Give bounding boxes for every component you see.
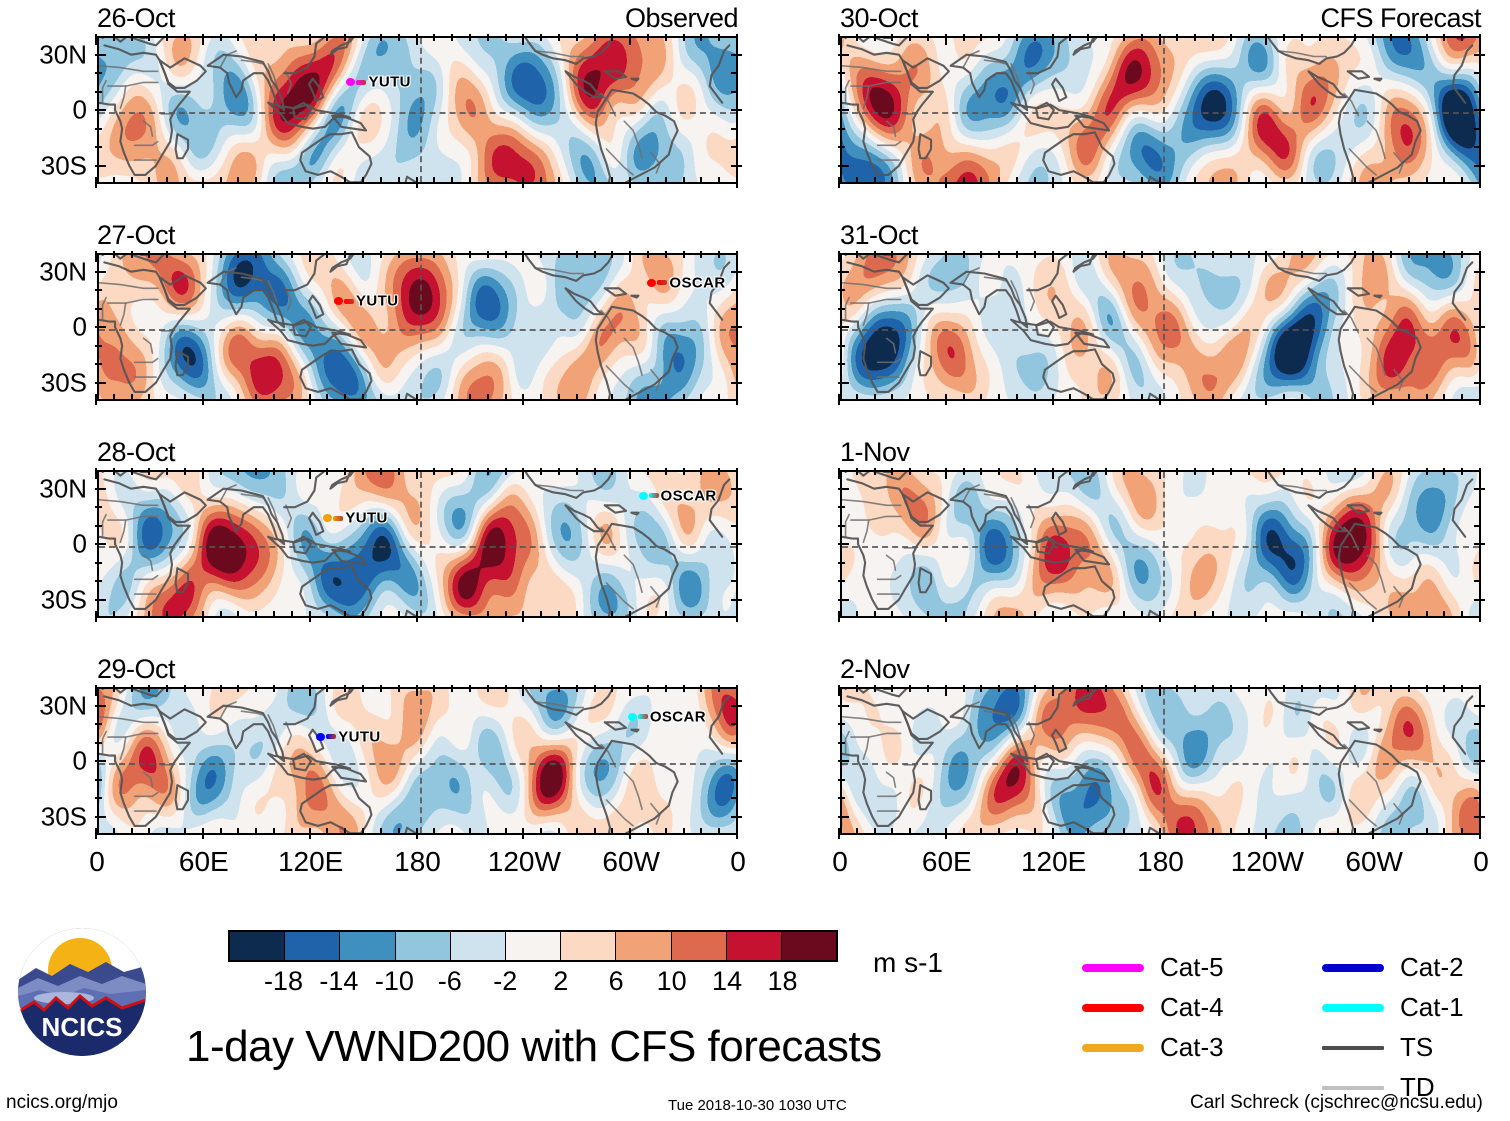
colorbar-segment: [230, 932, 284, 960]
axis-tick: [1159, 828, 1161, 839]
axis-tick: [505, 611, 507, 618]
panel-date-label: 31-Oct: [840, 220, 918, 251]
colorbar-tick-label: 18: [768, 966, 798, 997]
axis-tick: [344, 394, 346, 401]
axis-tick: [856, 685, 858, 692]
axis-tick: [1176, 828, 1178, 835]
y-axis-label: 0: [5, 529, 87, 560]
equator-line: [842, 112, 1479, 114]
axis-tick: [309, 685, 311, 696]
axis-tick: [1426, 177, 1428, 184]
storm-track-trail: [356, 80, 366, 85]
axis-tick: [629, 468, 631, 479]
axis-tick: [683, 685, 685, 692]
vwnd200-contour-field: [99, 255, 738, 401]
axis-tick: [909, 828, 911, 835]
axis-tick: [700, 177, 702, 184]
axis-tick: [998, 468, 1000, 475]
axis-tick: [1390, 34, 1392, 41]
vwnd200-contour-field: [842, 472, 1481, 618]
axis-tick: [1474, 599, 1485, 601]
axis-tick: [838, 34, 840, 45]
axis-tick: [647, 34, 649, 41]
axis-tick: [362, 177, 364, 184]
axis-tick: [1159, 611, 1161, 622]
axis-tick: [576, 611, 578, 618]
axis-tick: [856, 251, 858, 258]
axis-tick: [718, 611, 720, 618]
map-26-oct: YUTU: [97, 36, 738, 184]
axis-tick: [1372, 468, 1374, 479]
axis-tick: [95, 54, 106, 56]
y-axis-label: 30S: [5, 801, 87, 832]
axis-tick: [856, 468, 858, 475]
axis-tick: [594, 828, 596, 835]
axis-tick: [874, 468, 876, 475]
axis-tick: [202, 468, 204, 479]
axis-tick: [998, 685, 1000, 692]
axis-tick: [1337, 468, 1339, 475]
axis-tick: [255, 177, 257, 184]
axis-tick: [184, 611, 186, 618]
axis-tick: [113, 34, 115, 41]
axis-tick: [469, 34, 471, 41]
axis-tick: [1230, 468, 1232, 475]
axis-tick: [522, 34, 524, 45]
colorbar-tick-label: -14: [319, 966, 358, 997]
axis-tick: [1283, 251, 1285, 258]
axis-tick: [927, 34, 929, 41]
axis-tick: [731, 562, 738, 564]
y-axis-label: 30N: [5, 39, 87, 70]
colorbar-tick-label: -6: [438, 966, 462, 997]
axis-tick: [1474, 308, 1481, 310]
axis-tick: [540, 685, 542, 692]
y-axis-label: 30N: [5, 473, 87, 504]
axis-tick: [416, 468, 418, 479]
axis-tick: [1319, 685, 1321, 692]
legend-swatch: [1082, 964, 1144, 972]
axis-tick: [1390, 251, 1392, 258]
axis-tick: [874, 828, 876, 835]
storm-track-trail: [333, 516, 343, 521]
axis-tick: [505, 394, 507, 401]
y-axis-label: 30S: [5, 150, 87, 181]
axis-tick: [220, 177, 222, 184]
axis-tick: [95, 177, 97, 188]
axis-tick: [963, 611, 965, 618]
axis-tick: [731, 289, 738, 291]
axis-tick: [1474, 165, 1485, 167]
axis-tick: [522, 177, 524, 188]
axis-tick: [963, 394, 965, 401]
axis-tick: [398, 828, 400, 835]
storm-name-label: OSCAR: [669, 274, 725, 291]
axis-tick: [1212, 251, 1214, 258]
storm-marker-yutu: YUTU: [334, 292, 398, 310]
axis-tick: [1426, 34, 1428, 41]
axis-tick: [1474, 580, 1481, 582]
axis-tick: [1087, 685, 1089, 692]
axis-tick: [1443, 685, 1445, 692]
axis-tick: [273, 34, 275, 41]
axis-tick: [1354, 394, 1356, 401]
axis-tick: [1034, 34, 1036, 41]
axis-tick: [576, 177, 578, 184]
axis-tick: [647, 251, 649, 258]
axis-tick: [731, 271, 742, 273]
axis-tick: [838, 251, 840, 262]
axis-tick: [95, 828, 97, 839]
axis-tick: [927, 394, 929, 401]
legend-swatch: [1322, 964, 1384, 972]
axis-tick: [1474, 382, 1485, 384]
axis-tick: [148, 251, 150, 258]
axis-tick: [1443, 177, 1445, 184]
axis-tick: [1052, 251, 1054, 262]
axis-tick: [95, 599, 106, 601]
axis-tick: [945, 828, 947, 839]
axis-tick: [237, 468, 239, 475]
axis-tick: [594, 611, 596, 618]
y-axis-label: 0: [5, 312, 87, 343]
axis-tick: [1372, 177, 1374, 188]
axis-tick: [1372, 394, 1374, 405]
axis-tick: [838, 816, 849, 818]
axis-tick: [558, 685, 560, 692]
axis-tick: [451, 394, 453, 401]
axis-tick: [273, 828, 275, 835]
axis-tick: [522, 394, 524, 405]
colorbar-segment: [781, 932, 836, 960]
axis-tick: [1372, 611, 1374, 622]
storm-name-label: YUTU: [338, 728, 380, 745]
storm-position-dot: [346, 78, 355, 86]
axis-tick: [380, 828, 382, 835]
axis-tick: [611, 177, 613, 184]
axis-tick: [891, 828, 893, 835]
y-axis-label: 30S: [5, 584, 87, 615]
axis-tick: [273, 251, 275, 258]
axis-tick: [237, 611, 239, 618]
axis-tick: [326, 685, 328, 692]
axis-tick: [558, 177, 560, 184]
axis-tick: [731, 742, 738, 744]
axis-tick: [95, 326, 106, 328]
axis-tick: [718, 468, 720, 475]
axis-tick: [184, 34, 186, 41]
axis-tick: [558, 468, 560, 475]
axis-tick: [1176, 34, 1178, 41]
axis-tick: [380, 468, 382, 475]
axis-tick: [611, 468, 613, 475]
axis-tick: [166, 177, 168, 184]
axis-tick: [326, 611, 328, 618]
axis-tick: [1443, 468, 1445, 475]
axis-tick: [1319, 251, 1321, 258]
axis-tick: [838, 345, 845, 347]
axis-tick: [1474, 289, 1481, 291]
axis-tick: [963, 828, 965, 835]
axis-tick: [1123, 394, 1125, 401]
axis-tick: [148, 685, 150, 692]
axis-tick: [184, 828, 186, 835]
axis-tick: [736, 611, 738, 622]
panel-date-label: 27-Oct: [97, 220, 175, 251]
x-axis-label: 0: [1473, 846, 1489, 878]
axis-tick: [629, 685, 631, 696]
axis-tick: [1194, 468, 1196, 475]
colorbar-tick-label: -2: [493, 966, 517, 997]
axis-tick: [1230, 685, 1232, 692]
colorbar-tick-label: -18: [264, 966, 303, 997]
axis-tick: [665, 828, 667, 835]
axis-tick: [1212, 685, 1214, 692]
equator-line: [842, 329, 1479, 331]
axis-tick: [1176, 177, 1178, 184]
axis-tick: [291, 177, 293, 184]
axis-tick: [927, 177, 929, 184]
axis-tick: [451, 611, 453, 618]
legend-entry-cat-3: Cat-3: [1082, 1032, 1224, 1063]
axis-tick: [838, 146, 845, 148]
equator-line: [99, 763, 736, 765]
axis-tick: [255, 611, 257, 618]
axis-tick: [131, 828, 133, 835]
axis-tick: [487, 251, 489, 258]
axis-tick: [95, 525, 102, 527]
axis-tick: [398, 611, 400, 618]
axis-tick: [945, 34, 947, 45]
axis-tick: [309, 468, 311, 479]
axis-tick: [731, 109, 742, 111]
axis-tick: [1474, 705, 1485, 707]
axis-tick: [1087, 34, 1089, 41]
axis-tick: [731, 326, 742, 328]
axis-tick: [838, 580, 845, 582]
axis-tick: [1474, 779, 1481, 781]
panel-date-label: 2-Nov: [840, 654, 910, 685]
axis-tick: [273, 685, 275, 692]
axis-tick: [1479, 34, 1481, 45]
axis-tick: [1141, 251, 1143, 258]
axis-tick: [731, 705, 742, 707]
axis-tick: [665, 611, 667, 618]
axis-tick: [433, 468, 435, 475]
axis-tick: [700, 685, 702, 692]
axis-tick: [736, 685, 738, 696]
axis-tick: [1159, 394, 1161, 405]
axis-tick: [433, 394, 435, 401]
axis-tick: [856, 177, 858, 184]
axis-tick: [647, 828, 649, 835]
axis-tick: [487, 177, 489, 184]
axis-tick: [1230, 611, 1232, 618]
axis-tick: [1408, 34, 1410, 41]
axis-tick: [1461, 251, 1463, 258]
axis-tick: [874, 611, 876, 618]
axis-tick: [1265, 34, 1267, 45]
legend-entry-cat-4: Cat-4: [1082, 992, 1224, 1023]
axis-tick: [326, 177, 328, 184]
axis-tick: [1034, 611, 1036, 618]
axis-tick: [344, 177, 346, 184]
axis-tick: [1248, 251, 1250, 258]
axis-tick: [1265, 177, 1267, 188]
axis-tick: [487, 611, 489, 618]
legend-swatch: [1322, 1086, 1384, 1090]
axis-tick: [700, 251, 702, 258]
axis-tick: [1052, 177, 1054, 188]
axis-tick: [95, 345, 102, 347]
colorbar-tick-label: 6: [609, 966, 624, 997]
axis-tick: [594, 468, 596, 475]
axis-tick: [309, 828, 311, 839]
panel-date-label: 30-Oct: [840, 3, 918, 34]
map-29-oct: YUTUOSCAR: [97, 687, 738, 835]
axis-tick: [505, 468, 507, 475]
axis-tick: [1283, 177, 1285, 184]
axis-tick: [309, 251, 311, 262]
axis-tick: [540, 394, 542, 401]
axis-tick: [237, 177, 239, 184]
x-axis-label: 60E: [179, 846, 229, 878]
axis-tick: [380, 177, 382, 184]
axis-tick: [838, 760, 849, 762]
axis-tick: [980, 251, 982, 258]
axis-tick: [1052, 394, 1054, 405]
axis-tick: [1426, 828, 1428, 835]
x-axis-label: 60W: [1345, 846, 1403, 878]
x-axis-label: 180: [1137, 846, 1184, 878]
axis-tick: [398, 394, 400, 401]
axis-tick: [1265, 685, 1267, 696]
axis-tick: [1212, 177, 1214, 184]
axis-tick: [576, 34, 578, 41]
axis-tick: [1159, 34, 1161, 45]
axis-tick: [273, 468, 275, 475]
axis-tick: [980, 828, 982, 835]
axis-tick: [95, 34, 97, 45]
axis-tick: [998, 394, 1000, 401]
equator-line: [842, 546, 1479, 548]
axis-tick: [1474, 797, 1481, 799]
axis-tick: [1474, 326, 1485, 328]
axis-tick: [700, 828, 702, 835]
axis-tick: [1337, 611, 1339, 618]
axis-tick: [1301, 611, 1303, 618]
axis-tick: [838, 177, 840, 188]
axis-tick: [1283, 828, 1285, 835]
axis-tick: [1105, 34, 1107, 41]
axis-tick: [576, 394, 578, 401]
axis-tick: [1461, 685, 1463, 692]
axis-tick: [909, 611, 911, 618]
axis-tick: [1069, 468, 1071, 475]
axis-tick: [113, 468, 115, 475]
colorbar-tick-label: 14: [712, 966, 742, 997]
axis-tick: [255, 251, 257, 258]
axis-tick: [665, 177, 667, 184]
axis-tick: [362, 34, 364, 41]
axis-tick: [1052, 828, 1054, 839]
axis-tick: [1069, 251, 1071, 258]
axis-tick: [665, 394, 667, 401]
axis-tick: [945, 685, 947, 696]
axis-tick: [1474, 271, 1485, 273]
axis-tick: [1105, 685, 1107, 692]
axis-tick: [540, 611, 542, 618]
axis-tick: [838, 289, 845, 291]
axis-tick: [291, 34, 293, 41]
axis-tick: [1354, 828, 1356, 835]
axis-tick: [416, 251, 418, 262]
axis-tick: [909, 251, 911, 258]
axis-tick: [1194, 251, 1196, 258]
axis-tick: [505, 828, 507, 835]
ncics-logo: NCICS: [18, 928, 146, 1056]
axis-tick: [540, 828, 542, 835]
axis-tick: [647, 177, 649, 184]
axis-tick: [558, 611, 560, 618]
credit: Carl Schreck (cjschrec@ncsu.edu): [1190, 1092, 1483, 1114]
axis-tick: [131, 394, 133, 401]
axis-tick: [309, 34, 311, 45]
axis-tick: [731, 345, 738, 347]
axis-tick: [362, 251, 364, 258]
axis-tick: [891, 685, 893, 692]
axis-tick: [184, 251, 186, 258]
axis-tick: [1248, 34, 1250, 41]
axis-tick: [1408, 394, 1410, 401]
axis-tick: [1443, 251, 1445, 258]
axis-tick: [95, 109, 106, 111]
storm-track-trail: [344, 299, 354, 304]
axis-tick: [998, 251, 1000, 258]
axis-tick: [1319, 611, 1321, 618]
axis-tick: [273, 177, 275, 184]
axis-tick: [1034, 828, 1036, 835]
axis-tick: [838, 72, 845, 74]
x-axis-label: 120W: [1231, 846, 1304, 878]
axis-tick: [838, 797, 845, 799]
axis-tick: [576, 251, 578, 258]
x-axis-label: 180: [394, 846, 441, 878]
axis-tick: [838, 723, 845, 725]
axis-tick: [731, 128, 738, 130]
axis-tick: [874, 177, 876, 184]
axis-tick: [166, 251, 168, 258]
map-30-oct: [840, 36, 1481, 184]
vwnd200-contour-field: [99, 38, 738, 184]
axis-tick: [1016, 177, 1018, 184]
axis-tick: [665, 251, 667, 258]
axis-tick: [1141, 177, 1143, 184]
axis-tick: [237, 251, 239, 258]
storm-position-dot: [628, 713, 637, 721]
axis-tick: [963, 177, 965, 184]
axis-tick: [731, 165, 742, 167]
axis-tick: [433, 251, 435, 258]
axis-tick: [838, 468, 840, 479]
axis-tick: [1087, 251, 1089, 258]
axis-tick: [416, 685, 418, 696]
axis-tick: [1337, 685, 1339, 692]
axis-tick: [731, 308, 738, 310]
axis-tick: [1141, 468, 1143, 475]
axis-tick: [1069, 611, 1071, 618]
axis-tick: [1301, 34, 1303, 41]
